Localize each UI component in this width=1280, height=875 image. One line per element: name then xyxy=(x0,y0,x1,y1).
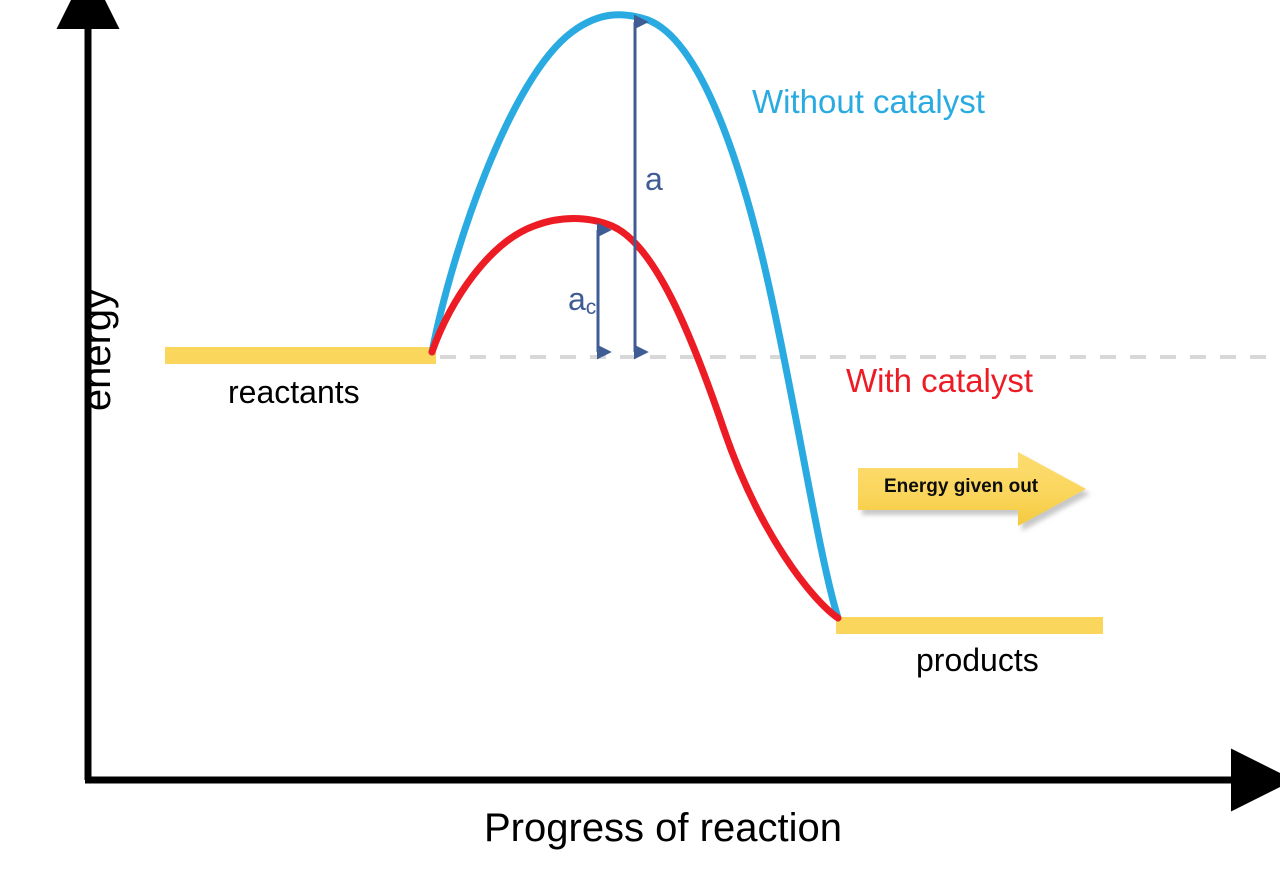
reactants-level-bar xyxy=(165,347,436,364)
activation-energy-catalysed-label: ac xyxy=(568,283,596,318)
products-level-bar xyxy=(836,617,1103,634)
y-axis-label: energy xyxy=(77,265,117,435)
activation-energy-label: a xyxy=(645,163,663,195)
energy-profile-diagram: energy Progress of reaction reactants pr… xyxy=(0,0,1280,875)
ac-subscript: c xyxy=(586,296,597,319)
x-axis-label: Progress of reaction xyxy=(484,808,842,848)
products-label: products xyxy=(916,644,1039,676)
without-catalyst-label: Without catalyst xyxy=(752,85,985,118)
energy-given-out-label: Energy given out xyxy=(884,477,1038,496)
diagram-canvas xyxy=(0,0,1280,875)
ac-base: a xyxy=(568,281,586,317)
reactants-label: reactants xyxy=(228,376,360,408)
with-catalyst-label: With catalyst xyxy=(846,364,1033,397)
